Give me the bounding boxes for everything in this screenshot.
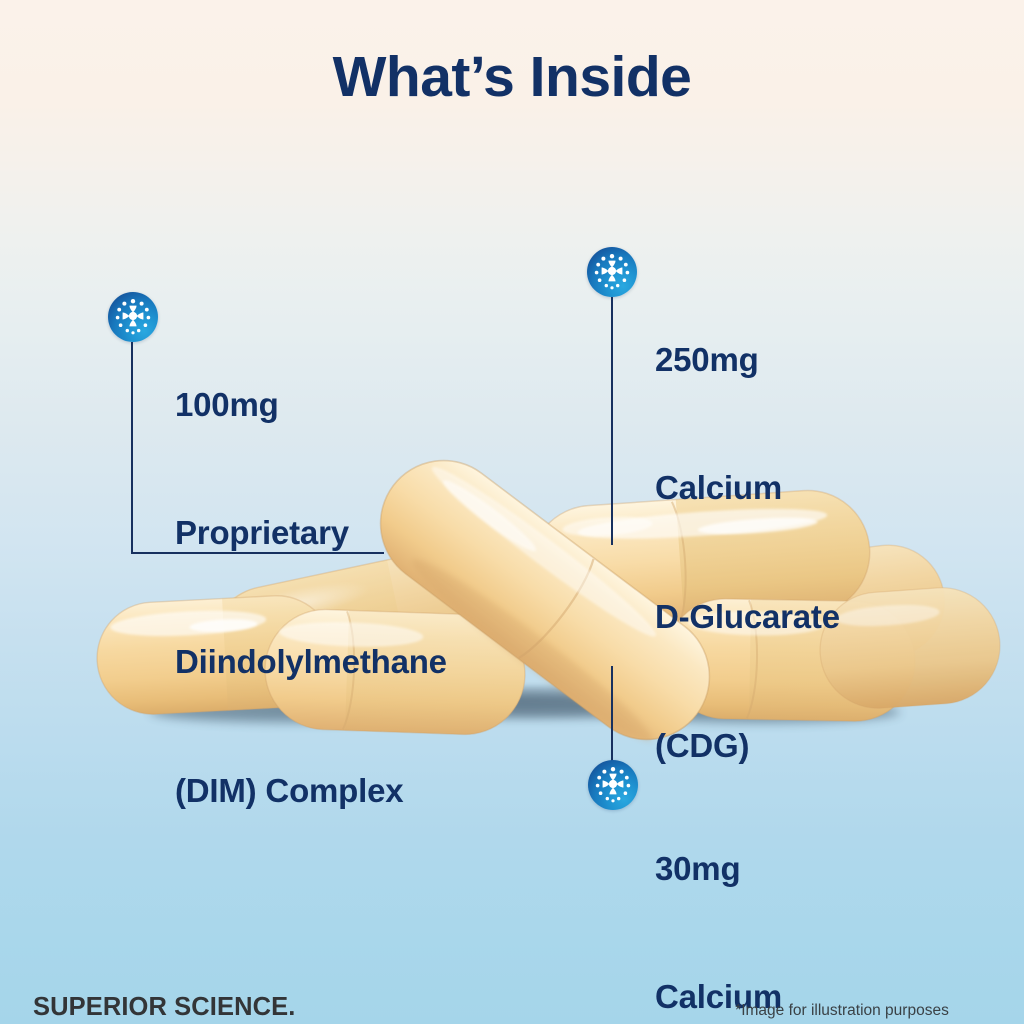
product-infographic: What’s Inside	[0, 0, 1024, 1024]
callout-dim-line-1: 100mg	[175, 384, 447, 427]
image-disclaimer: *Image for illustration purposes only, a…	[682, 957, 1002, 1024]
callout-dim-line-4: (DIM) Complex	[175, 770, 447, 813]
leader-line-cdg-vertical	[611, 297, 613, 545]
callout-cdg-line-3: D-Glucarate	[655, 596, 840, 639]
tagline-line-1: SUPERIOR SCIENCE.	[33, 991, 331, 1024]
disclaimer-line-1: *Image for illustration purposes	[682, 1000, 1002, 1021]
brand-tagline: SUPERIOR SCIENCE. SMARTER FORMULAS.®	[33, 925, 331, 1024]
callout-calcium-line-1: 30mg	[655, 848, 782, 891]
callout-cdg-line-2: Calcium	[655, 467, 840, 510]
leader-line-calcium-vertical	[611, 666, 613, 762]
molecule-icon	[108, 292, 158, 342]
molecule-icon	[588, 760, 638, 810]
callout-dim-line-2: Proprietary	[175, 512, 447, 555]
callout-dim-line-3: Diindolylmethane	[175, 641, 447, 684]
page-title: What’s Inside	[0, 48, 1024, 108]
callout-cdg-line-1: 250mg	[655, 339, 840, 382]
callout-dim-complex: 100mg Proprietary Diindolylmethane (DIM)…	[175, 298, 447, 898]
capsule-pile-image	[0, 0, 1024, 1024]
molecule-icon	[587, 247, 637, 297]
leader-line-dim-vertical	[131, 342, 133, 554]
